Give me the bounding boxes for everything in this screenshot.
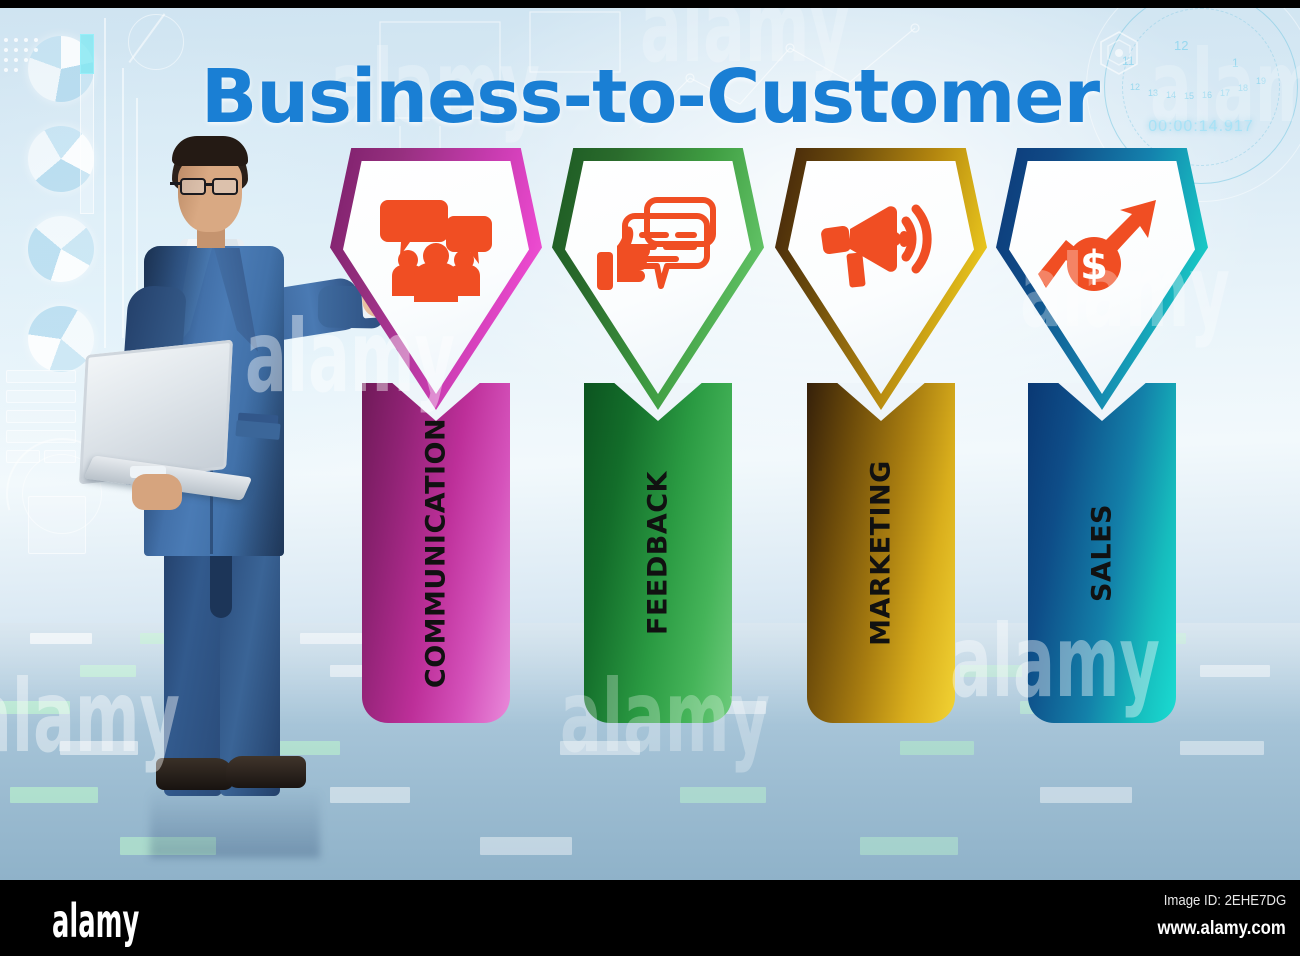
- megaphone-icon: [775, 180, 987, 320]
- column-marketing[interactable]: MARKETING: [775, 8, 1005, 768]
- column-label-communication: COMMUNICATION: [421, 418, 452, 688]
- bar-marketing: MARKETING: [807, 383, 955, 723]
- screenshot-root: 12 11 1 12 13 14 15 16 17 18 19 00:00:14…: [0, 0, 1300, 956]
- alamy-logo: alamy: [52, 894, 139, 948]
- alamy-footer-bar: alamy Image ID: 2EHE7DG www.alamy.com: [0, 880, 1300, 956]
- pentagon-feedback[interactable]: [552, 148, 764, 410]
- svg-text:$: $: [1080, 243, 1108, 289]
- pentagon-sales[interactable]: $: [996, 148, 1208, 410]
- column-feedback[interactable]: FEEDBACK: [552, 8, 782, 768]
- column-communication[interactable]: COMMUNICATION: [330, 8, 560, 768]
- image-id-text: Image ID: 2EHE7DG: [1163, 892, 1286, 909]
- thumbs-up-chat-icon: [552, 180, 764, 320]
- column-label-feedback: FEEDBACK: [643, 471, 674, 635]
- column-label-sales: SALES: [1087, 504, 1118, 602]
- infographic-columns: COMMUNICATION: [0, 8, 1300, 880]
- bar-feedback: FEEDBACK: [584, 383, 732, 723]
- column-sales[interactable]: SALES $: [996, 8, 1226, 768]
- stock-photo: 12 11 1 12 13 14 15 16 17 18 19 00:00:14…: [0, 8, 1300, 880]
- pentagon-marketing[interactable]: [775, 148, 987, 410]
- speech-bubbles-group-icon: [330, 180, 542, 320]
- bar-sales: SALES: [1028, 383, 1176, 723]
- bar-communication: COMMUNICATION: [362, 383, 510, 723]
- pentagon-communication[interactable]: [330, 148, 542, 410]
- growth-arrow-dollar-icon: $: [996, 180, 1208, 320]
- column-label-marketing: MARKETING: [866, 460, 897, 646]
- alamy-url-text: www.alamy.com: [1158, 918, 1286, 940]
